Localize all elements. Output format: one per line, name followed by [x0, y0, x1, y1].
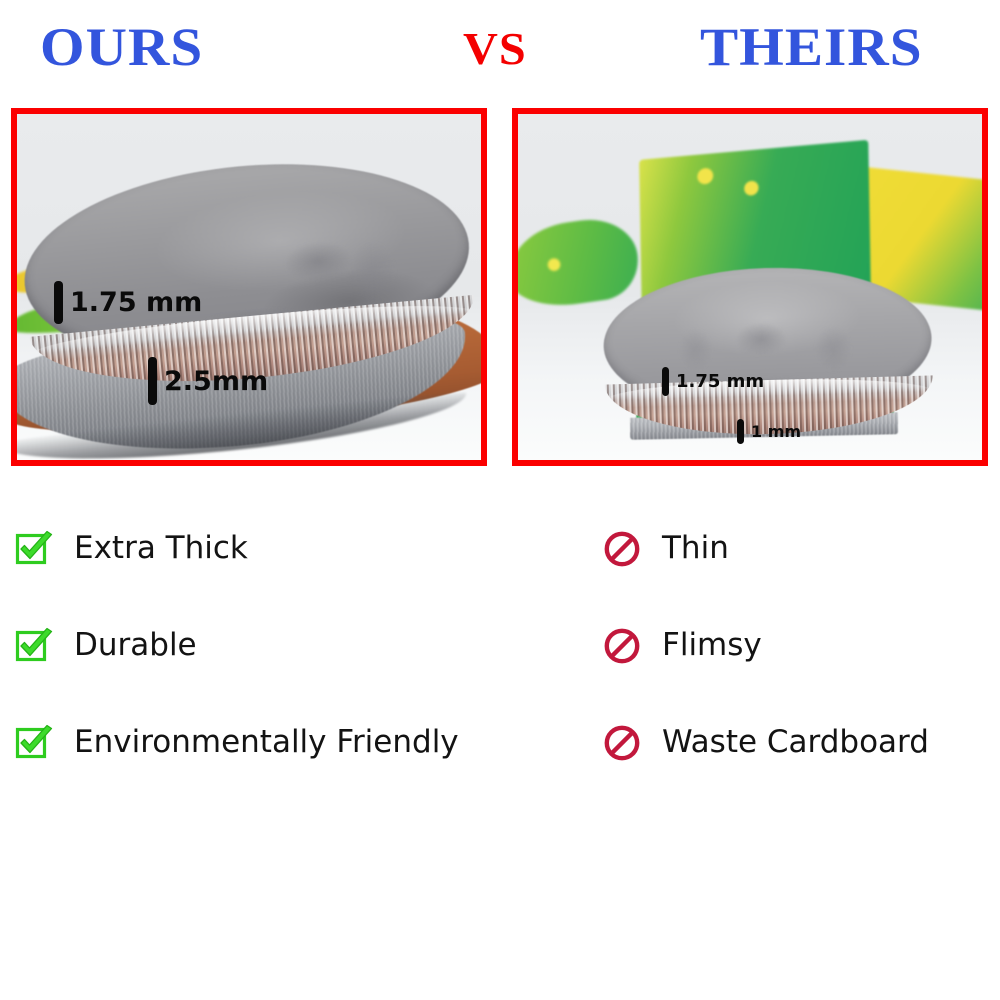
ours-title: OURS [40, 20, 203, 74]
measure-value: 2.5mm [164, 368, 268, 395]
list-item: Extra Thick [14, 500, 514, 597]
prohibition-icon [602, 626, 642, 666]
feature-label: Waste Cardboard [662, 727, 929, 758]
ours-coin-thickness-callout: 1.75 mm [54, 281, 202, 324]
green-check-box-icon [14, 723, 54, 763]
list-item: Thin [602, 500, 1000, 597]
theirs-coin-thickness-callout: 1.75 mm [662, 367, 764, 396]
theirs-product-photo [518, 114, 982, 460]
feature-label: Extra Thick [74, 533, 248, 564]
cons-column: Thin Flimsy Waste Cardboard [602, 500, 1000, 791]
list-item: Durable [14, 597, 514, 694]
theirs-photo-panel [512, 108, 988, 466]
list-item: Waste Cardboard [602, 694, 1000, 791]
theirs-title: THEIRS [700, 20, 923, 74]
prohibition-icon [602, 529, 642, 569]
list-item: Environmentally Friendly [14, 694, 514, 791]
comparison-header: OURS VS THEIRS [0, 0, 1000, 100]
feature-label: Environmentally Friendly [74, 727, 459, 758]
green-check-box-icon [14, 626, 54, 666]
feature-comparison: Extra Thick Durable Environmentally Frie… [0, 500, 1000, 830]
green-check-box-icon [14, 529, 54, 569]
measure-bar-icon [54, 281, 63, 324]
theirs-mat-thickness-callout: 1 mm [737, 419, 801, 444]
measure-bar-icon [662, 367, 669, 396]
feature-label: Durable [74, 630, 197, 661]
measure-value: 1.75 mm [676, 373, 764, 391]
ours-mat-thickness-callout: 2.5mm [148, 357, 268, 405]
prohibition-icon [602, 723, 642, 763]
measure-bar-icon [737, 419, 744, 444]
measure-bar-icon [148, 357, 157, 405]
pros-column: Extra Thick Durable Environmentally Frie… [14, 500, 514, 791]
list-item: Flimsy [602, 597, 1000, 694]
measure-value: 1.75 mm [70, 289, 202, 316]
measure-value: 1 mm [751, 424, 801, 440]
feature-label: Thin [662, 533, 729, 564]
feature-label: Flimsy [662, 630, 762, 661]
versus-label: VS [463, 26, 527, 72]
